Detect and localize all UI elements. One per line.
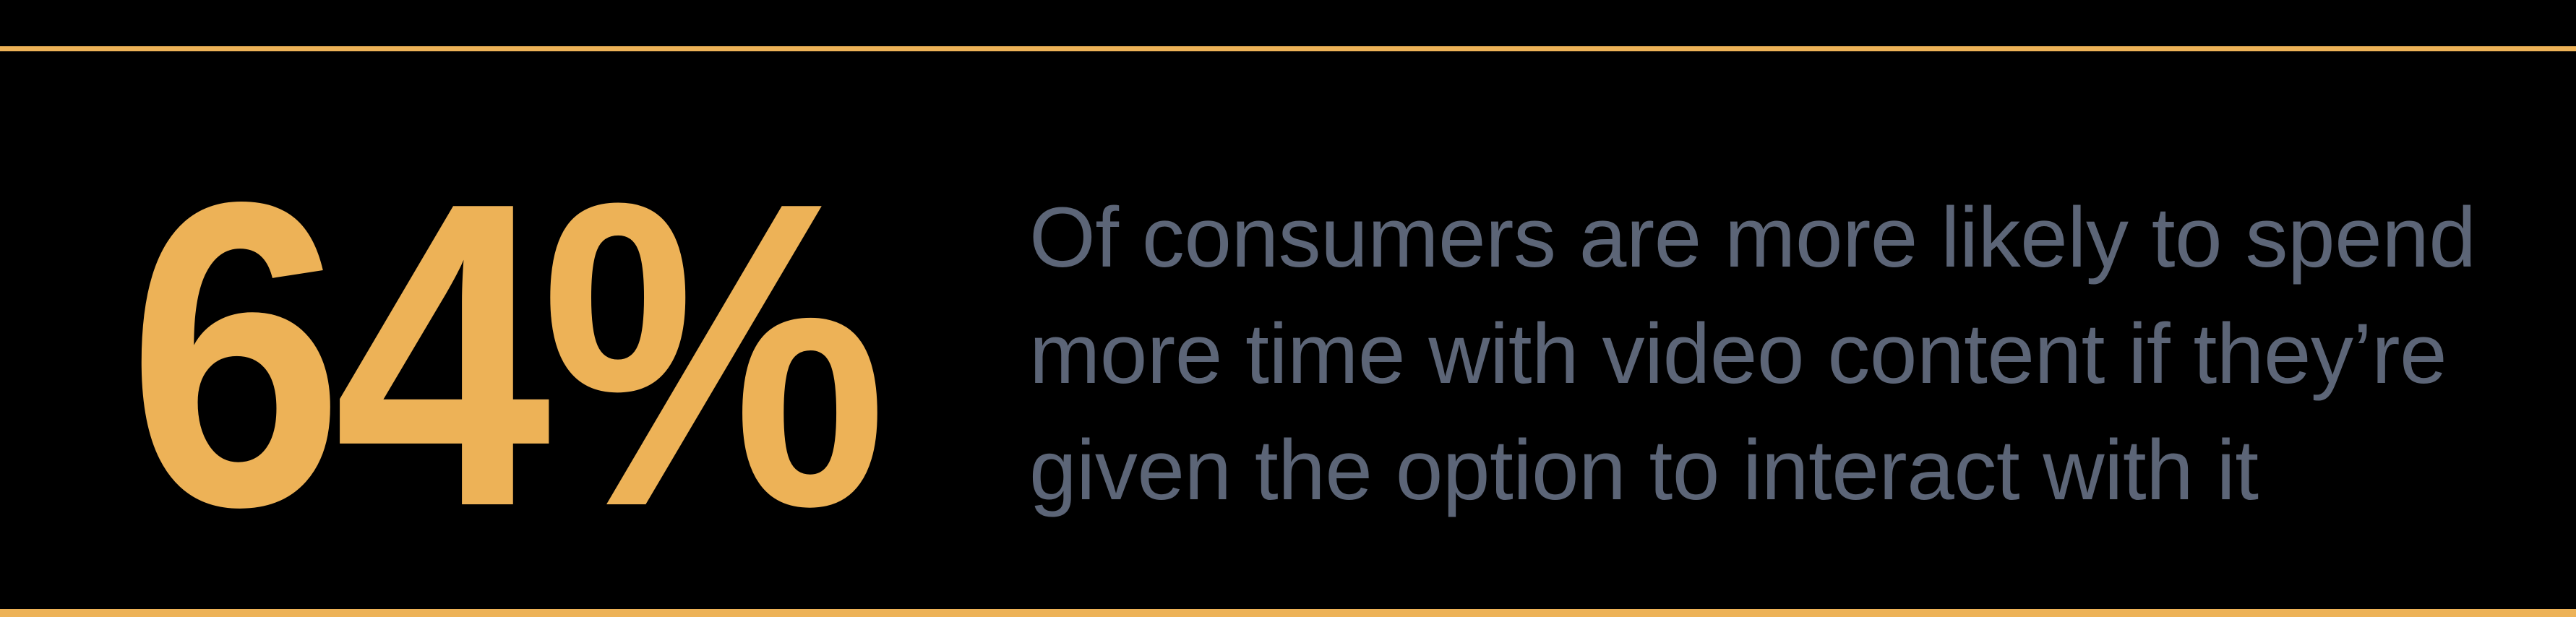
- stat-figure: 64%: [127, 138, 877, 571]
- stat-description: Of consumers are more likely to spend mo…: [1029, 180, 2475, 529]
- stat-description-line-1: Of consumers are more likely to spend: [1029, 180, 2475, 296]
- bottom-divider-rule: [0, 609, 2576, 617]
- top-divider-rule: [0, 46, 2576, 51]
- stat-description-line-3: given the option to interact with it: [1029, 413, 2475, 529]
- stat-description-line-2: more time with video content if they’re: [1029, 296, 2475, 413]
- stat-content-row: 64% Of consumers are more likely to spen…: [0, 51, 2576, 609]
- stat-value: 64: [127, 113, 541, 597]
- percent-symbol: %: [541, 113, 877, 597]
- stat-banner: 64% Of consumers are more likely to spen…: [0, 0, 2576, 617]
